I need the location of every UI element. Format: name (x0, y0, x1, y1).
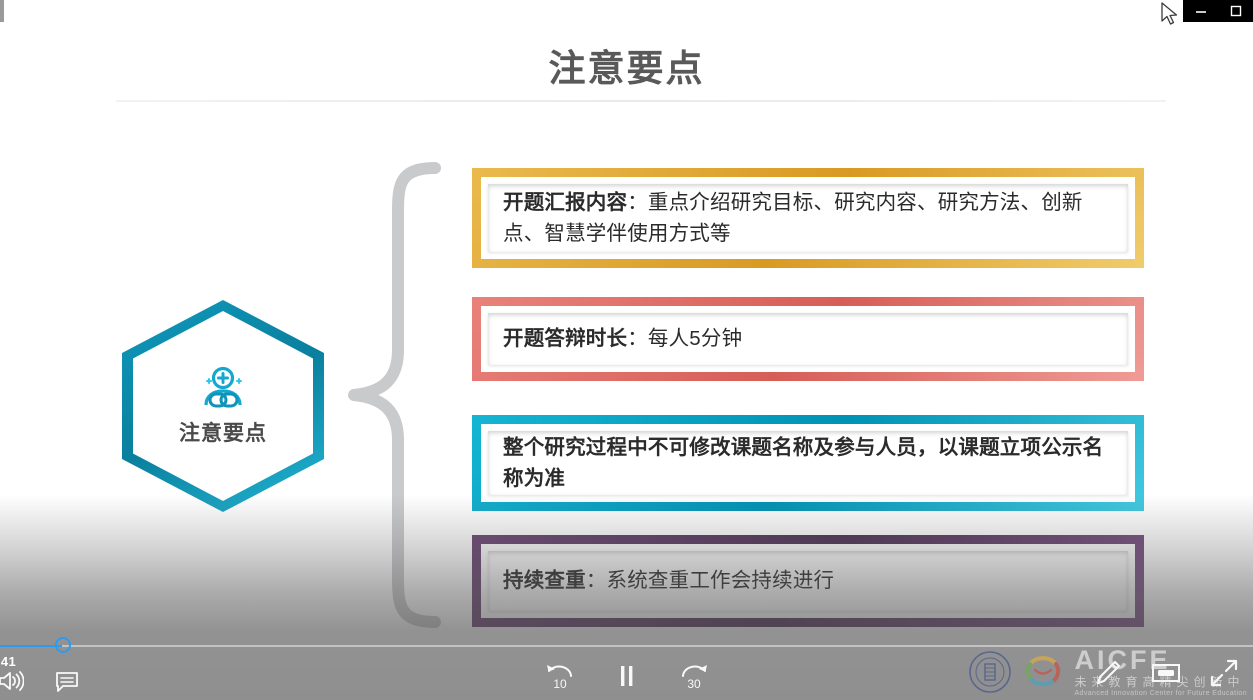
callout-box-4: 持续查重：系统查重工作会持续进行 (472, 535, 1144, 627)
callout-box-4-body: 系统查重工作会持续进行 (607, 569, 835, 592)
page-title: 注意要点 (0, 38, 1253, 92)
rewind-10-icon[interactable]: 10 (544, 662, 576, 690)
mouse-cursor-icon (1160, 2, 1182, 28)
callout-box-3-text: 整个研究过程中不可修改课题名称及参与人员，以课题立项公示名称为准 (503, 432, 1113, 494)
curly-brace (340, 160, 480, 630)
seek-progress-fill (0, 645, 62, 647)
callout-box-4-lead: 持续查重 (503, 569, 586, 592)
callout-box-2-text: 开题答辩时长：每人5分钟 (503, 323, 742, 354)
callout-box-3-lead: 整个研究过程中不可修改课题名称及参与人员，以课题立项公示名称为准 (503, 436, 1103, 490)
video-player-controls: :41 10 (0, 620, 1253, 700)
hexagon-label: 注意要点 (179, 417, 267, 447)
fullscreen-icon[interactable] (1209, 658, 1239, 688)
playback-controls: 10 30 (0, 662, 1253, 690)
callout-box-2-separator: ： (627, 327, 648, 350)
pencil-icon[interactable] (1093, 658, 1123, 688)
forward-label: 30 (687, 677, 701, 690)
pause-icon[interactable] (616, 663, 638, 689)
callout-box-1: 开题汇报内容：重点介绍研究目标、研究内容、研究方法、创新点、智慧学伴使用方式等 (472, 168, 1144, 268)
callout-box-2: 开题答辩时长：每人5分钟 (472, 297, 1144, 381)
callout-box-4-separator: ： (586, 569, 607, 592)
minimize-icon[interactable] (1194, 4, 1208, 18)
window-controls (1183, 0, 1253, 22)
maximize-icon[interactable] (1229, 4, 1243, 18)
callout-box-4-text: 持续查重：系统查重工作会持续进行 (503, 565, 834, 596)
title-divider (116, 100, 1166, 102)
seek-track[interactable] (0, 645, 1253, 647)
right-controls (1093, 658, 1239, 688)
seek-bar[interactable] (0, 644, 1253, 648)
callout-box-1-text: 开题汇报内容：重点介绍研究目标、研究内容、研究方法、创新点、智慧学伴使用方式等 (503, 187, 1113, 249)
person-plus-link-icon (196, 365, 250, 411)
callout-box-1-lead: 开题汇报内容 (503, 191, 627, 214)
forward-30-icon[interactable]: 30 (678, 662, 710, 690)
hexagon-node: 注意要点 (122, 300, 324, 512)
slide-viewer: 注意要点 注意要点 开题汇报内容：重点介绍研究目标、研究内容、研究方法、创新点、… (0, 0, 1253, 700)
left-edge-marker (0, 0, 4, 22)
callout-box-2-body: 每人5分钟 (648, 327, 742, 350)
callout-box-3: 整个研究过程中不可修改课题名称及参与人员，以课题立项公示名称为准 (472, 415, 1144, 511)
rewind-label: 10 (553, 677, 567, 690)
callout-box-2-lead: 开题答辩时长 (503, 327, 627, 350)
seek-thumb[interactable] (55, 637, 71, 653)
callout-box-1-separator: ： (627, 191, 648, 214)
snapshot-icon[interactable] (1151, 661, 1181, 685)
